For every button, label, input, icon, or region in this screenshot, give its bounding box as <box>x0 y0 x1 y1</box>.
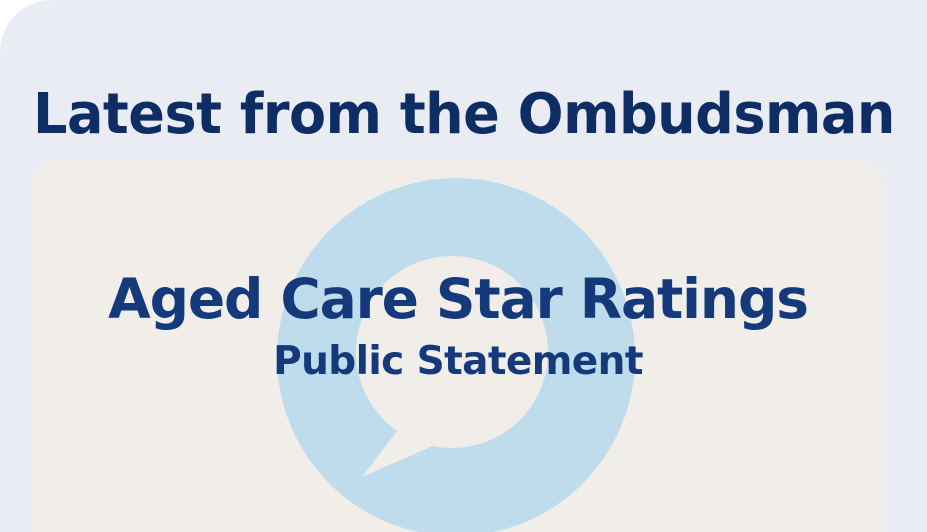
page-title: Latest from the Ombudsman <box>33 72 882 158</box>
page-background-panel: Latest from the Ombudsman <box>0 0 927 532</box>
feature-card[interactable]: Aged Care Star Ratings Public Statement <box>32 160 884 532</box>
card-text-block: Aged Care Star Ratings Public Statement <box>32 160 884 532</box>
card-title: Aged Care Star Ratings <box>108 266 808 332</box>
card-subtitle: Public Statement <box>273 336 643 388</box>
screenshot-root: Latest from the Ombudsman <box>0 0 927 532</box>
